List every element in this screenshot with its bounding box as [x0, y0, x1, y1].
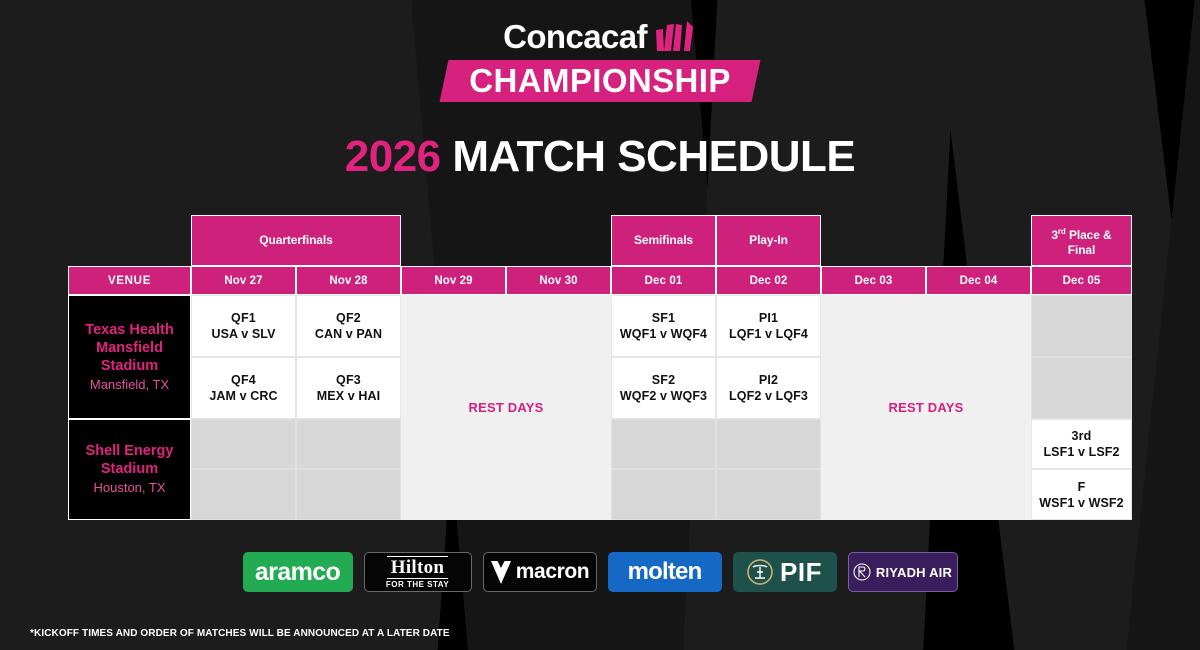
sponsor-macron-label: macron: [516, 560, 589, 584]
pif-emblem-icon: [747, 559, 773, 585]
third-place-line2: Final: [1068, 243, 1096, 257]
sponsor-hilton-label: Hilton: [387, 556, 449, 579]
match-cell-sf2[interactable]: SF2 WQF2 v WQF3: [611, 357, 716, 419]
match-teams: USA v SLV: [211, 326, 275, 342]
match-teams: LQF2 v LQF3: [729, 388, 808, 404]
empty-cell-nov28-r3: [296, 419, 401, 469]
match-code: PI1: [759, 310, 778, 326]
match-cell-third-place[interactable]: 3rd LSF1 v LSF2: [1031, 419, 1132, 469]
match-cell-pi1[interactable]: PI1 LQF1 v LQF4: [716, 295, 821, 357]
empty-cell-nov27-r3: [191, 419, 296, 469]
match-cell-sf1[interactable]: SF1 WQF1 v WQF4: [611, 295, 716, 357]
sponsor-aramco[interactable]: aramco: [243, 552, 353, 592]
macron-chevron-icon: [490, 559, 512, 585]
match-schedule-table: Quarterfinals Semifinals Play-In 3rd Pla…: [68, 215, 1132, 520]
match-code: PI2: [759, 372, 778, 388]
third-place-num: 3: [1051, 228, 1058, 242]
rest-days-block-1: REST DAYS: [401, 295, 611, 520]
match-cell-qf1[interactable]: QF1 USA v SLV: [191, 295, 296, 357]
sponsor-molten[interactable]: molten: [608, 552, 722, 592]
venue-shell-energy-stadium: Shell Energy Stadium Houston, TX: [68, 419, 191, 520]
empty-cell-dec01-r3: [611, 419, 716, 469]
round-header-play-in: Play-In: [716, 215, 821, 266]
round-header-spacer: [68, 215, 191, 266]
match-teams: CAN v PAN: [315, 326, 382, 342]
match-teams: MEX v HAI: [317, 388, 380, 404]
title-year: 2026: [345, 132, 441, 181]
title-rest: MATCH SCHEDULE: [441, 132, 856, 181]
empty-cell-dec01-r4: [611, 469, 716, 520]
match-teams: JAM v CRC: [209, 388, 277, 404]
match-teams: WQF1 v WQF4: [620, 326, 707, 342]
riyadh-air-monogram-icon: [853, 562, 871, 582]
concacaf-wordmark: Concacaf: [503, 18, 647, 56]
sponsor-row: aramco Hilton FOR THE STAY macron molten…: [0, 552, 1200, 592]
match-code: F: [1078, 479, 1086, 495]
round-header-third-place-final: 3rd Place & Final: [1031, 215, 1132, 266]
date-header-dec01: Dec 01: [611, 266, 716, 295]
schedule-graphic: Concacaf CHAMPIONSHIP 2026 MATCH SCHEDUL…: [0, 0, 1200, 650]
sponsor-macron[interactable]: macron: [483, 552, 597, 592]
empty-cell-dec05-r1: [1031, 295, 1132, 357]
sponsor-riyadh-air[interactable]: RIYADH AIR: [848, 552, 958, 592]
championship-banner: CHAMPIONSHIP: [440, 60, 761, 102]
match-cell-final[interactable]: F WSF1 v WSF2: [1031, 469, 1132, 520]
championship-text: CHAMPIONSHIP: [444, 60, 756, 102]
match-cell-qf3[interactable]: QF3 MEX v HAI: [296, 357, 401, 419]
venue2-name-line2: Stadium: [101, 460, 158, 478]
date-header-dec03: Dec 03: [821, 266, 926, 295]
venue-name-line3: Stadium: [101, 357, 158, 375]
venue-name-line2: Mansfield: [96, 339, 163, 357]
concacaf-championship-logo: Concacaf CHAMPIONSHIP: [430, 18, 770, 102]
match-code: QF2: [336, 310, 361, 326]
date-header-nov27: Nov 27: [191, 266, 296, 295]
sponsor-hilton[interactable]: Hilton FOR THE STAY: [364, 552, 472, 592]
match-code: QF3: [336, 372, 361, 388]
match-cell-qf4[interactable]: QF4 JAM v CRC: [191, 357, 296, 419]
match-code: SF2: [652, 372, 676, 388]
sponsor-pif-label: PIF: [780, 557, 822, 588]
footnote-disclaimer: *KICKOFF TIMES AND ORDER OF MATCHES WILL…: [30, 628, 450, 639]
date-header-dec02: Dec 02: [716, 266, 821, 295]
sponsor-aramco-label: aramco: [255, 558, 340, 587]
concacaf-w-mark-icon: [655, 20, 697, 54]
date-header-nov28: Nov 28: [296, 266, 401, 295]
header: Concacaf CHAMPIONSHIP 2026 MATCH SCHEDUL…: [0, 0, 1200, 200]
empty-cell-dec05-r2: [1031, 357, 1132, 419]
empty-cell-nov28-r4: [296, 469, 401, 520]
venue-city-houston: Houston, TX: [93, 478, 165, 497]
empty-cell-nov27-r4: [191, 469, 296, 520]
third-place-sup: rd: [1058, 227, 1066, 236]
match-teams: LSF1 v LSF2: [1043, 444, 1119, 460]
date-header-nov29: Nov 29: [401, 266, 506, 295]
match-code: QF1: [231, 310, 256, 326]
rest-days-block-2: REST DAYS: [821, 295, 1031, 520]
match-code: QF4: [231, 372, 256, 388]
page-title: 2026 MATCH SCHEDULE: [0, 132, 1200, 182]
venue2-name-line1: Shell Energy: [86, 442, 174, 460]
match-teams: WSF1 v WSF2: [1039, 495, 1123, 511]
match-teams: WQF2 v WQF3: [620, 388, 707, 404]
sponsor-riyadh-air-label: RIYADH AIR: [876, 565, 952, 580]
date-header-dec04: Dec 04: [926, 266, 1031, 295]
venue-city-mansfield: Mansfield, TX: [90, 375, 169, 394]
round-header-quarterfinals: Quarterfinals: [191, 215, 401, 266]
date-header-dec05: Dec 05: [1031, 266, 1132, 295]
venue-texas-health-mansfield-stadium: Texas Health Mansfield Stadium Mansfield…: [68, 295, 191, 419]
venue-column-header: VENUE: [68, 266, 191, 295]
round-header-gap-1: [401, 215, 611, 266]
venue-name-line1: Texas Health: [85, 321, 173, 339]
third-place-main: Place &: [1069, 228, 1112, 242]
empty-cell-dec02-r4: [716, 469, 821, 520]
match-cell-pi2[interactable]: PI2 LQF2 v LQF3: [716, 357, 821, 419]
match-code: SF1: [652, 310, 676, 326]
match-code: 3rd: [1071, 428, 1091, 444]
sponsor-pif[interactable]: PIF: [733, 552, 837, 592]
date-header-nov30: Nov 30: [506, 266, 611, 295]
empty-cell-dec02-r3: [716, 419, 821, 469]
match-teams: LQF1 v LQF4: [729, 326, 808, 342]
round-header-semifinals: Semifinals: [611, 215, 716, 266]
round-header-gap-2: [821, 215, 1031, 266]
match-cell-qf2[interactable]: QF2 CAN v PAN: [296, 295, 401, 357]
sponsor-molten-label: molten: [628, 558, 702, 586]
sponsor-hilton-tagline: FOR THE STAY: [386, 580, 449, 589]
